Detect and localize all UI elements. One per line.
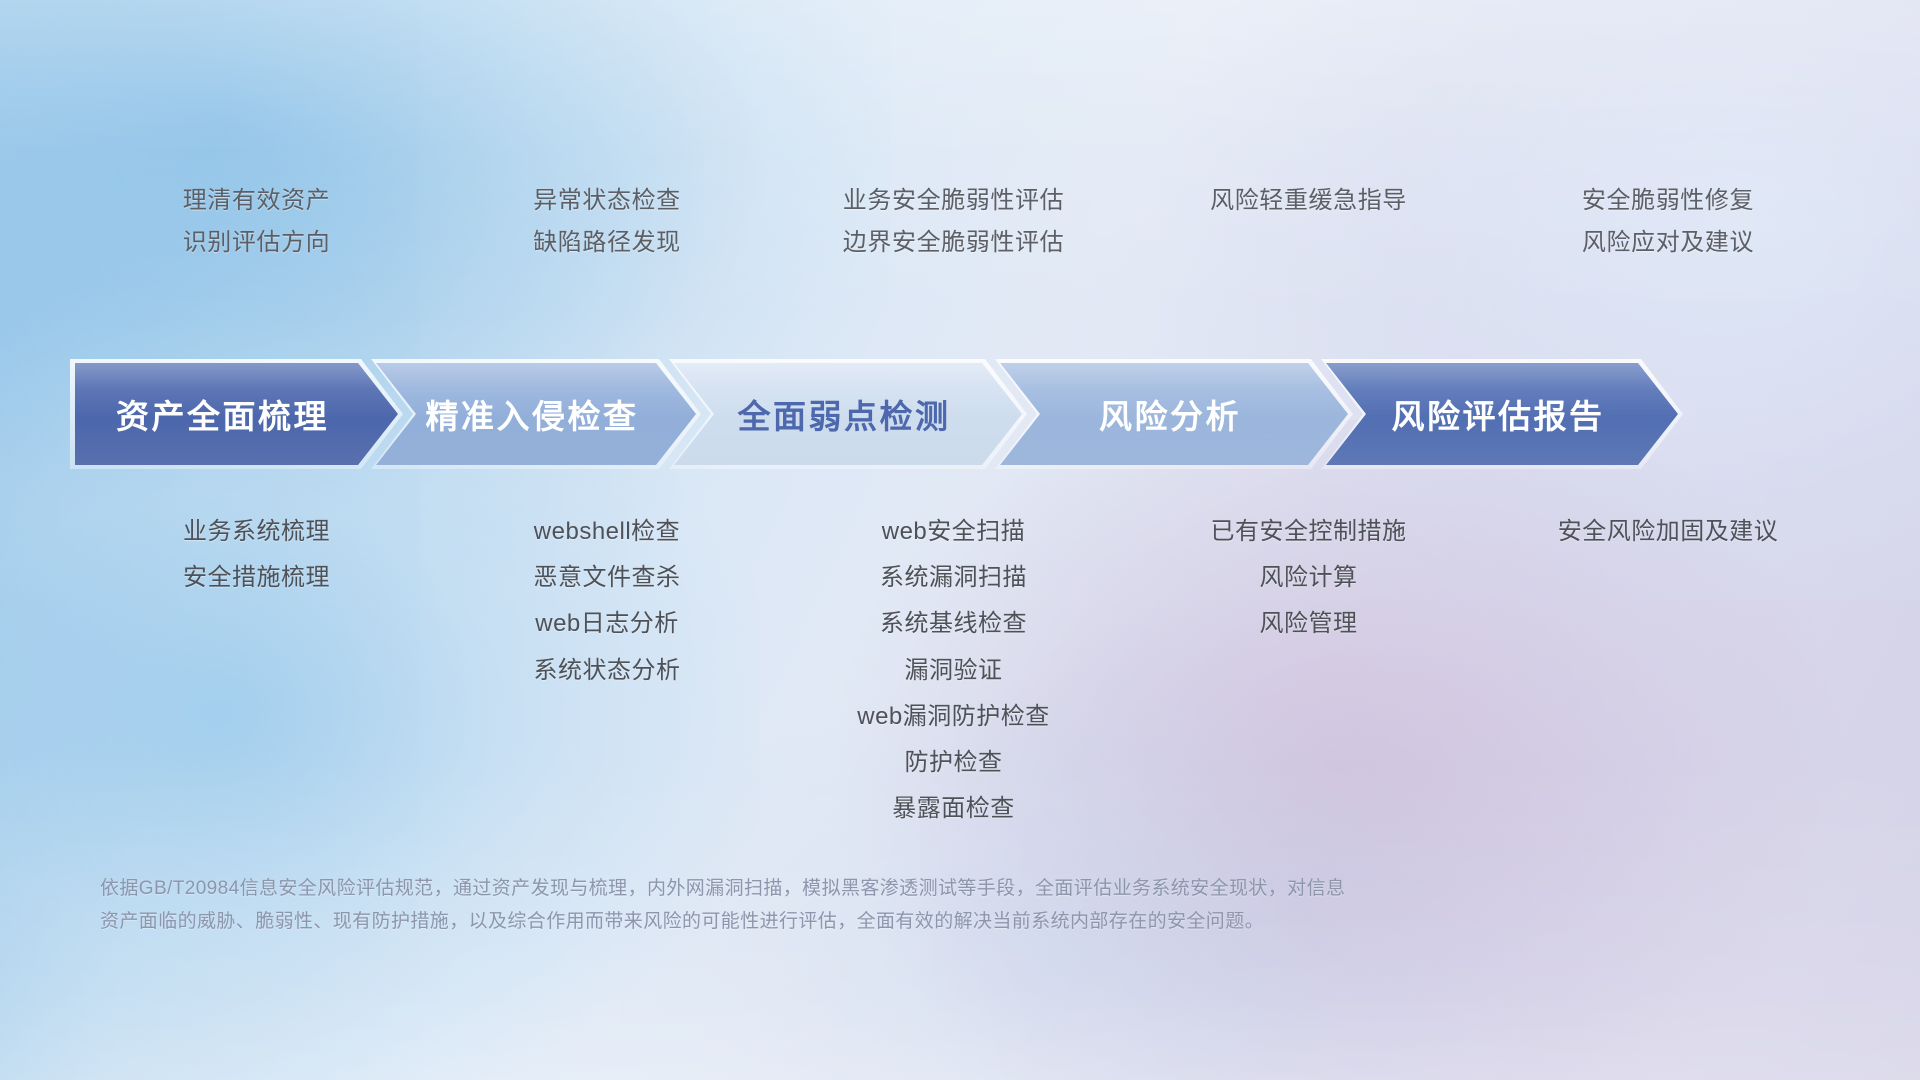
top-caption-group-4: 风险轻重缓急指导 — [1131, 186, 1486, 258]
detail-item: 系统基线检查 — [880, 608, 1027, 639]
slide-content: 理清有效资产 识别评估方向 异常状态检查 缺陷路径发现 业务安全脆弱性评估 边界… — [0, 0, 1920, 1080]
top-caption-line: 识别评估方向 — [183, 228, 331, 258]
top-caption-line: 风险应对及建议 — [1582, 228, 1754, 258]
top-caption-line: 异常状态检查 — [533, 186, 681, 216]
top-caption-group-3: 业务安全脆弱性评估 边界安全脆弱性评估 — [776, 186, 1131, 258]
top-caption-group-2: 异常状态检查 缺陷路径发现 — [438, 186, 776, 258]
detail-list-3: web安全扫描 系统漏洞扫描 系统基线检查 漏洞验证 web漏洞防护检查 防护检… — [776, 418, 1131, 824]
process-step-label: 风险评估报告 — [1392, 390, 1605, 438]
process-arrow-band: 资产全面梳理 精准入侵检查 全面弱点检测 风险分析 — [75, 363, 1850, 465]
detail-item: 暴露面检查 — [892, 793, 1015, 824]
top-caption-group-1: 理清有效资产 识别评估方向 — [75, 186, 438, 258]
top-caption-line: 业务安全脆弱性评估 — [843, 186, 1064, 216]
detail-item: 系统状态分析 — [534, 655, 681, 686]
footer-line-2: 资产面临的威胁、脆弱性、现有防护措施，以及综合作用而带来风险的可能性进行评估，全… — [100, 905, 1610, 938]
detail-item: 安全风险加固及建议 — [1558, 516, 1779, 547]
detail-item: 风险管理 — [1260, 608, 1358, 639]
detail-item: 安全措施梳理 — [183, 562, 330, 593]
detail-item: 漏洞验证 — [905, 655, 1003, 686]
detail-item: web日志分析 — [535, 608, 679, 639]
detail-item: 业务系统梳理 — [183, 516, 330, 547]
footer-description: 依据GB/T20984信息安全风险评估规范，通过资产发现与梳理，内外网漏洞扫描，… — [100, 872, 1610, 938]
slide-canvas: 理清有效资产 识别评估方向 异常状态检查 缺陷路径发现 业务安全脆弱性评估 边界… — [0, 0, 1920, 1080]
detail-item: 已有安全控制措施 — [1211, 516, 1407, 547]
top-caption-row: 理清有效资产 识别评估方向 异常状态检查 缺陷路径发现 业务安全脆弱性评估 边界… — [75, 186, 1850, 258]
top-caption-line: 安全脆弱性修复 — [1582, 186, 1754, 216]
top-caption-line: 理清有效资产 — [183, 186, 331, 216]
top-caption-line: 边界安全脆弱性评估 — [843, 228, 1064, 258]
detail-item: 防护检查 — [905, 747, 1003, 778]
process-step-label: 全面弱点检测 — [738, 390, 951, 438]
process-step-5[interactable]: 风险评估报告 — [1326, 363, 1678, 465]
detail-item: 恶意文件查杀 — [534, 562, 681, 593]
process-step-2[interactable]: 精准入侵检查 — [376, 363, 696, 465]
top-caption-line: 缺陷路径发现 — [533, 228, 681, 258]
detail-item: webshell检查 — [534, 516, 680, 547]
detail-item: web安全扫描 — [882, 516, 1026, 547]
process-step-1[interactable]: 资产全面梳理 — [75, 363, 398, 465]
process-step-3[interactable]: 全面弱点检测 — [674, 363, 1022, 465]
process-step-label: 资产全面梳理 — [116, 390, 329, 438]
top-caption-line: 风险轻重缓急指导 — [1210, 186, 1407, 216]
detail-item: 系统漏洞扫描 — [880, 562, 1027, 593]
top-caption-group-5: 安全脆弱性修复 风险应对及建议 — [1486, 186, 1850, 258]
process-step-label: 风险分析 — [1099, 390, 1241, 438]
detail-item: 风险计算 — [1260, 562, 1358, 593]
process-step-4[interactable]: 风险分析 — [1000, 363, 1348, 465]
detail-item: web漏洞防护检查 — [857, 701, 1050, 732]
process-step-label: 精准入侵检查 — [426, 390, 639, 438]
bottom-detail-row: 业务系统梳理 安全措施梳理 webshell检查 恶意文件查杀 web日志分析 … — [75, 418, 1850, 824]
footer-line-1: 依据GB/T20984信息安全风险评估规范，通过资产发现与梳理，内外网漏洞扫描，… — [100, 872, 1610, 905]
